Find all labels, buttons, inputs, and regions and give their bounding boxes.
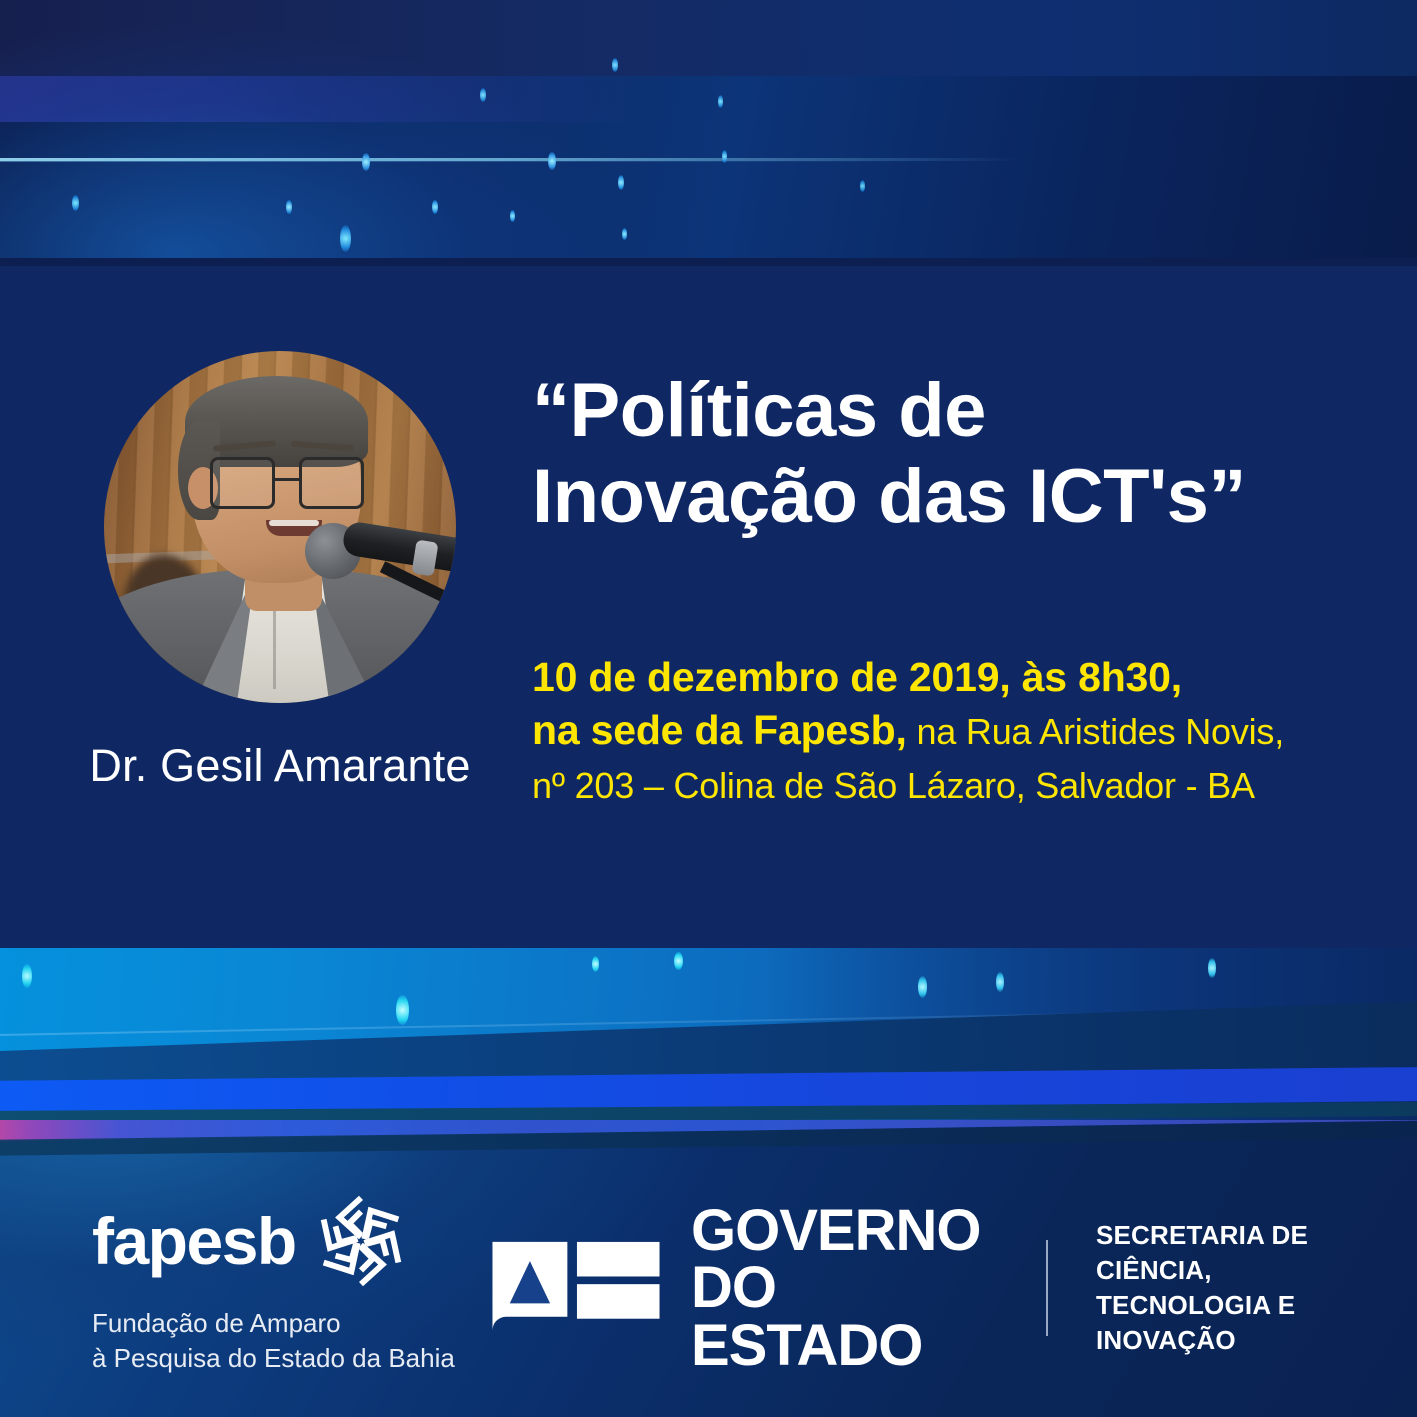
speaker-name: Dr. Gesil Amarante bbox=[0, 740, 560, 792]
particle-icon bbox=[362, 153, 370, 171]
top-light-line-secondary bbox=[0, 161, 935, 162]
particle-icon bbox=[432, 200, 438, 214]
particle-icon bbox=[22, 964, 32, 988]
event-detail-strong: na sede da Fapesb, bbox=[532, 707, 907, 753]
fapesb-wordmark: fapesb bbox=[92, 1208, 296, 1274]
particle-icon bbox=[72, 195, 79, 211]
event-detail-line: 10 de dezembro de 2019, às 8h30, bbox=[532, 651, 1392, 704]
page-title: “Políticas de Inovação das ICT's” bbox=[532, 368, 1382, 540]
particle-icon bbox=[722, 150, 727, 163]
top-band-base bbox=[0, 258, 1417, 266]
top-decorative-band bbox=[0, 0, 1417, 266]
particle-icon bbox=[612, 58, 618, 72]
event-detail-strong: 10 de dezembro de 2019, às 8h30, bbox=[532, 654, 1182, 700]
teeth bbox=[269, 520, 318, 526]
event-detail-light: nº 203 – Colina de São Lázaro, Salvador … bbox=[532, 765, 1255, 806]
particle-icon bbox=[718, 95, 723, 108]
secretariat-line-2: TECNOLOGIA E INOVAÇÃO bbox=[1096, 1288, 1417, 1358]
event-poster: Dr. Gesil Amarante “Políticas de Inovaçã… bbox=[0, 0, 1417, 1417]
event-details: 10 de dezembro de 2019, às 8h30, na sede… bbox=[532, 651, 1392, 811]
particle-icon bbox=[618, 175, 624, 190]
particle-icon bbox=[674, 952, 683, 970]
event-detail-light: na Rua Aristides Novis, bbox=[907, 711, 1284, 752]
event-detail-line: nº 203 – Colina de São Lázaro, Salvador … bbox=[532, 758, 1392, 811]
fapesb-tagline-line-1: Fundação de Amparo bbox=[92, 1306, 462, 1341]
particle-icon bbox=[622, 228, 627, 240]
government-logo[interactable]: GOVERNO DO ESTADO SECRETARIA DE CIÊNCIA,… bbox=[487, 1202, 1417, 1374]
secretariat-name: SECRETARIA DE CIÊNCIA, TECNOLOGIA E INOV… bbox=[1096, 1218, 1417, 1357]
particle-icon bbox=[396, 995, 409, 1025]
particle-icon bbox=[996, 972, 1004, 992]
lens-right bbox=[299, 457, 364, 510]
eyeglasses-icon bbox=[210, 457, 365, 510]
government-line-2: DO ESTADO bbox=[691, 1259, 998, 1374]
particle-icon bbox=[286, 200, 292, 214]
glasses-bridge bbox=[275, 478, 300, 481]
fapesb-tagline: Fundação de Amparo à Pesquisa do Estado … bbox=[92, 1306, 462, 1376]
secretariat-line-1: SECRETARIA DE CIÊNCIA, bbox=[1096, 1218, 1417, 1288]
particle-icon bbox=[340, 225, 351, 252]
speaker-photo bbox=[104, 351, 456, 703]
particle-icon bbox=[592, 956, 599, 972]
particle-icon bbox=[510, 210, 515, 222]
particle-icon bbox=[548, 152, 556, 170]
particle-icon bbox=[1208, 958, 1216, 978]
event-detail-line: na sede da Fapesb, na Rua Aristides Novi… bbox=[532, 704, 1392, 757]
footer: fapesb bbox=[0, 1120, 1417, 1417]
main-content-panel: Dr. Gesil Amarante “Políticas de Inovaçã… bbox=[0, 266, 1417, 949]
fapesb-emblem-icon bbox=[312, 1192, 410, 1290]
headline-line-1: “Políticas de bbox=[532, 368, 986, 453]
shirt-placket bbox=[273, 597, 276, 689]
particle-icon bbox=[860, 180, 865, 192]
top-glow bbox=[0, 0, 879, 266]
government-wordmark: GOVERNO DO ESTADO bbox=[691, 1202, 998, 1374]
headline-line-2: Inovação das ICT's” bbox=[532, 454, 1382, 540]
bahia-flag-icon bbox=[487, 1240, 665, 1336]
particle-icon bbox=[480, 88, 486, 102]
lens-left bbox=[210, 457, 275, 510]
fapesb-tagline-line-2: à Pesquisa do Estado da Bahia bbox=[92, 1341, 462, 1376]
fapesb-logo[interactable]: fapesb bbox=[92, 1192, 462, 1376]
lower-decorative-band bbox=[0, 948, 1417, 1123]
footer-divider bbox=[1046, 1240, 1048, 1336]
government-line-1: GOVERNO bbox=[691, 1202, 998, 1259]
particle-icon bbox=[918, 976, 927, 998]
